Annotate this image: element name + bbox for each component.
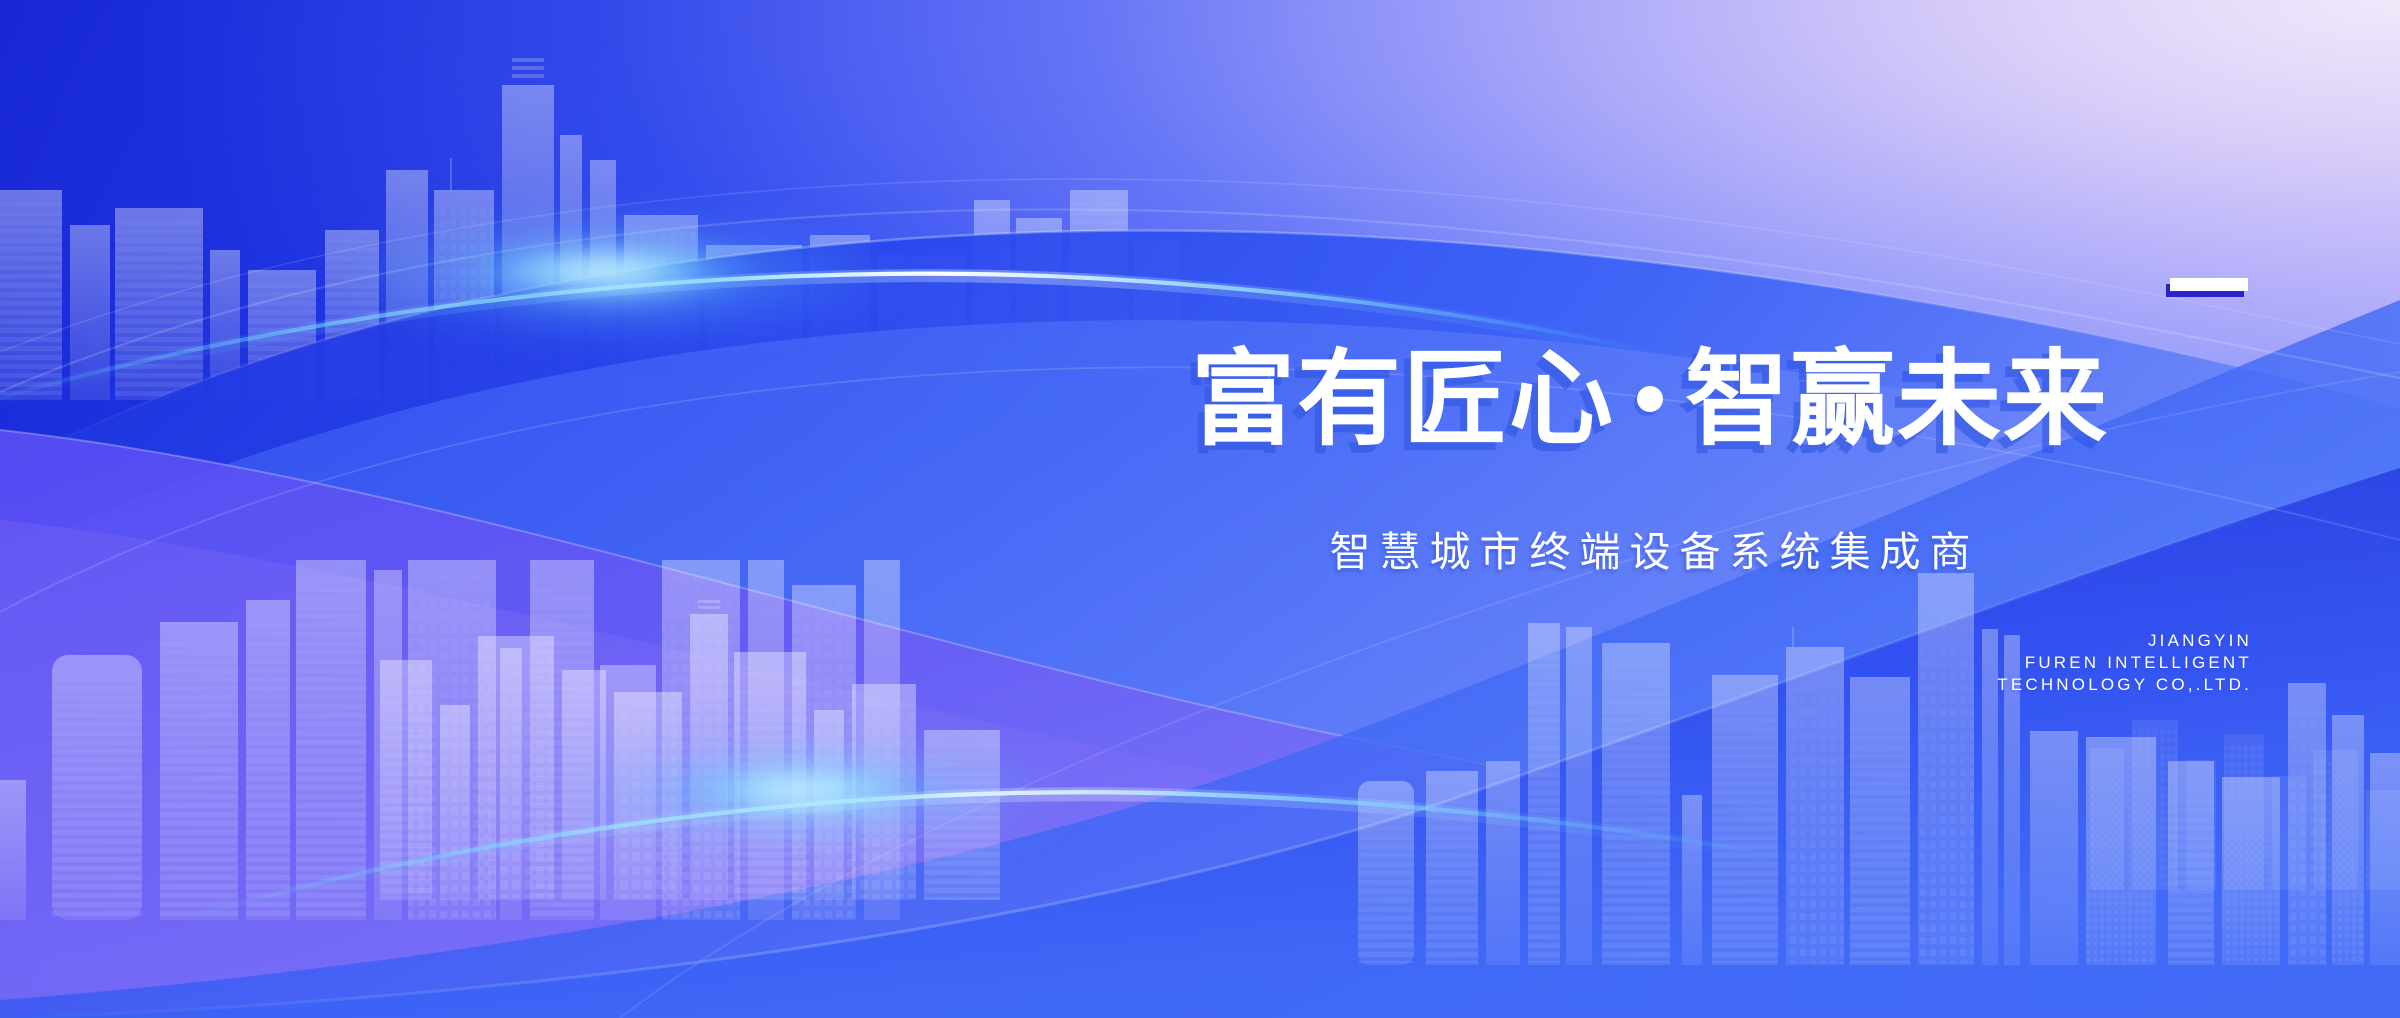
vignette-overlay [0,0,2400,1018]
promo-banner: 富有匠心智赢未来 智慧城市终端设备系统集成商 JIANGYIN FUREN IN… [0,0,2400,1018]
